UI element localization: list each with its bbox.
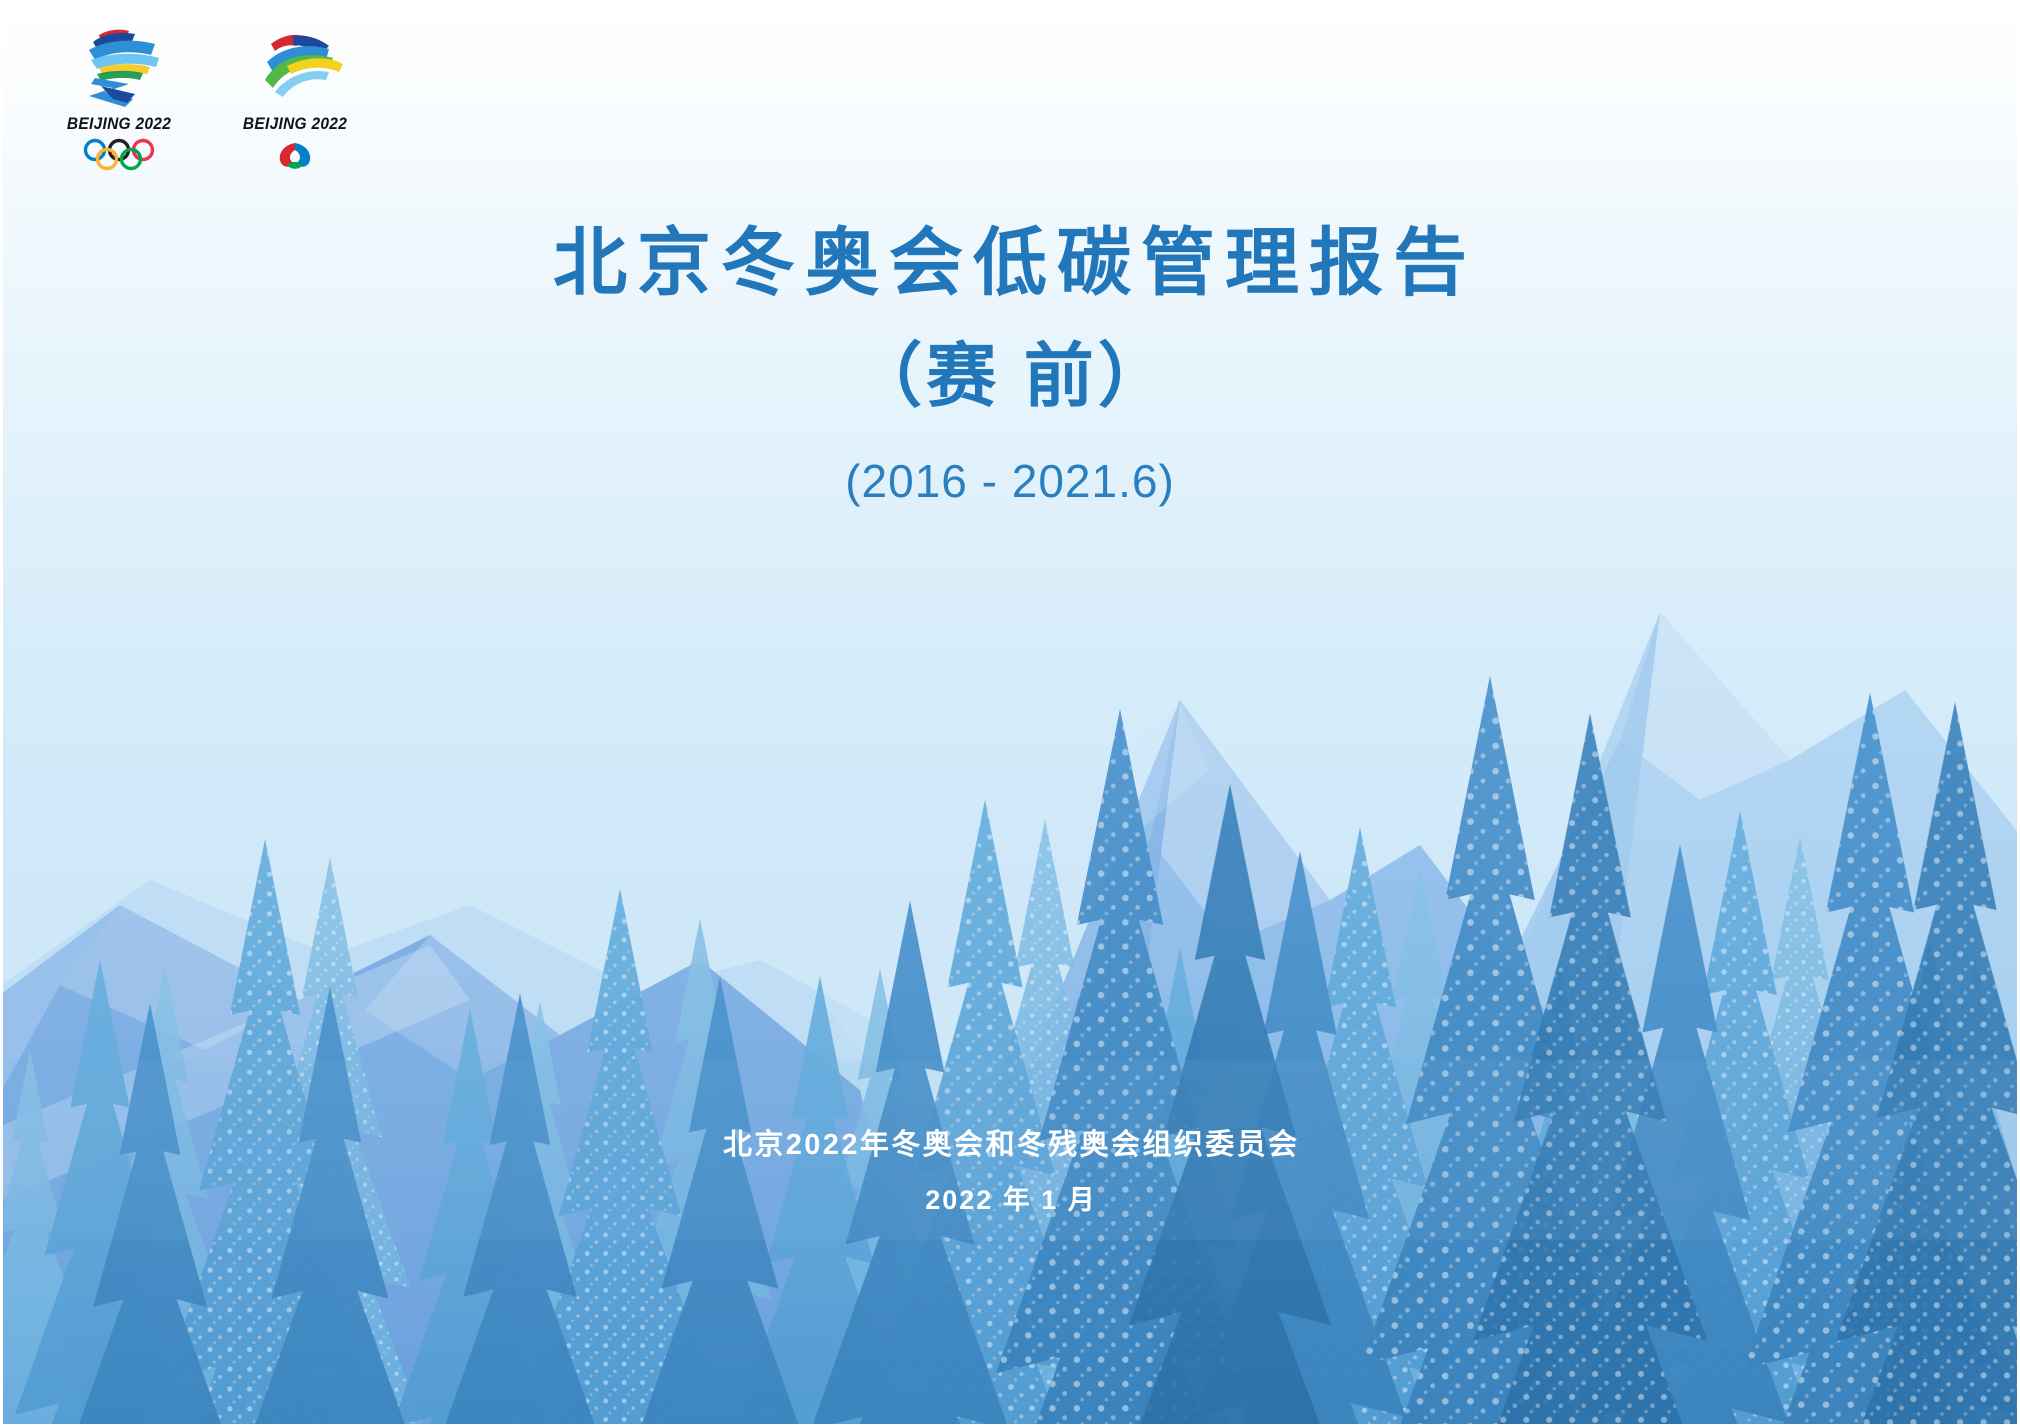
publication-date: 2022 年 1 月 — [0, 1178, 2020, 1217]
page-subtitle: （赛 前） — [0, 338, 2020, 415]
beijing-2022-olympic-logo: BEIJING 2022 — [55, 22, 183, 171]
page-title: 北京冬奥会低碳管理报告 — [0, 222, 2020, 303]
agitos-icon — [231, 137, 359, 171]
olympic-rings-icon — [55, 137, 183, 171]
logo-bar: BEIJING 2022 BEIJING 20 — [55, 22, 359, 171]
frame-edge-left — [0, 0, 3, 1428]
frame-edge-top — [0, 0, 2020, 3]
flying-emblem-icon — [231, 22, 359, 114]
organization-name: 北京2022年冬奥会和冬残奥会组织委员会 — [0, 1121, 2020, 1163]
beijing-2022-paralympic-logo: BEIJING 2022 — [231, 22, 359, 171]
winter-dream-emblem-icon — [55, 22, 183, 114]
slide-canvas: BEIJING 2022 BEIJING 20 — [0, 0, 2020, 1428]
report-period: (2016 - 2021.6) — [0, 454, 2020, 508]
frame-edge-bottom — [0, 1424, 2020, 1428]
paralympic-wordmark: BEIJING 2022 — [235, 115, 355, 134]
olympic-wordmark: BEIJING 2022 — [59, 115, 179, 134]
